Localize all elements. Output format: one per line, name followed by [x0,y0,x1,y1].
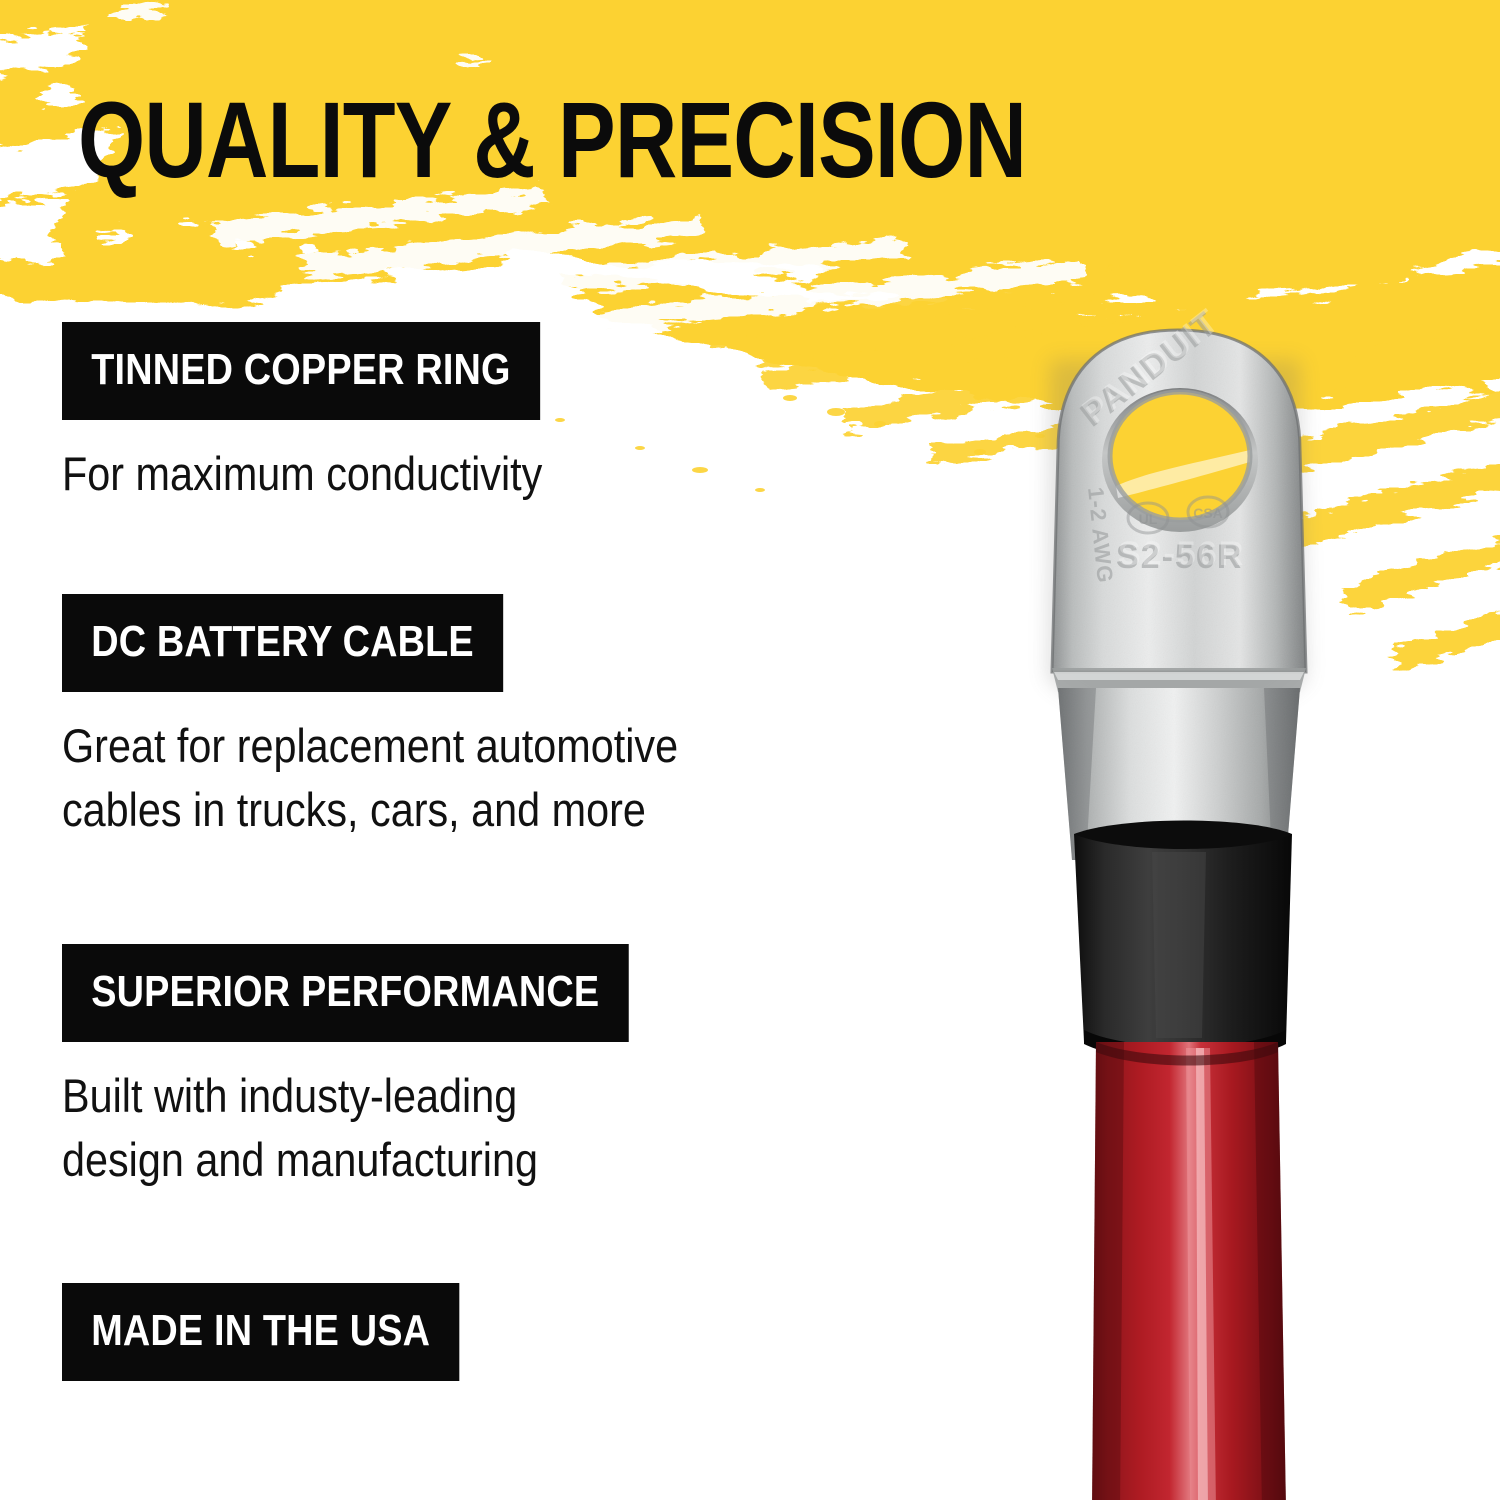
feature-tag-2: DC BATTERY CABLE [62,594,503,692]
feature-tag-3: SUPERIOR PERFORMANCE [62,944,628,1042]
lug-cert-ul: UL [1139,511,1158,527]
lug-cert-csa: CSA [1193,505,1223,521]
feature-block-tinned-copper-ring: TINNED COPPER RING For maximum conductiv… [62,322,618,506]
feature-tag-1: TINNED COPPER RING [62,322,540,420]
product-photo-ring-terminal-battery-cable: PANDUIT PANDUIT 1-2 AWG UL CSA S2-56R [1000,300,1420,1500]
feature-description-3: Built with industy-leading design and ma… [62,1064,642,1192]
feature-description-1: For maximum conductivity [62,442,551,506]
infographic-canvas: QUALITY & PRECISION TINNED COPPER RING F… [0,0,1500,1500]
feature-description-2: Great for replacement automotive cables … [62,714,678,842]
feature-block-superior-performance: SUPERIOR PERFORMANCE Built with industy-… [62,944,721,1192]
svg-text:S2-56R: S2-56R [1118,535,1245,573]
feature-tag-4: MADE IN THE USA [62,1283,459,1381]
page-title: QUALITY & PRECISION [78,86,1026,194]
feature-block-made-in-the-usa: MADE IN THE USA [62,1283,524,1381]
feature-block-dc-battery-cable: DC BATTERY CABLE Great for replacement a… [62,594,762,842]
